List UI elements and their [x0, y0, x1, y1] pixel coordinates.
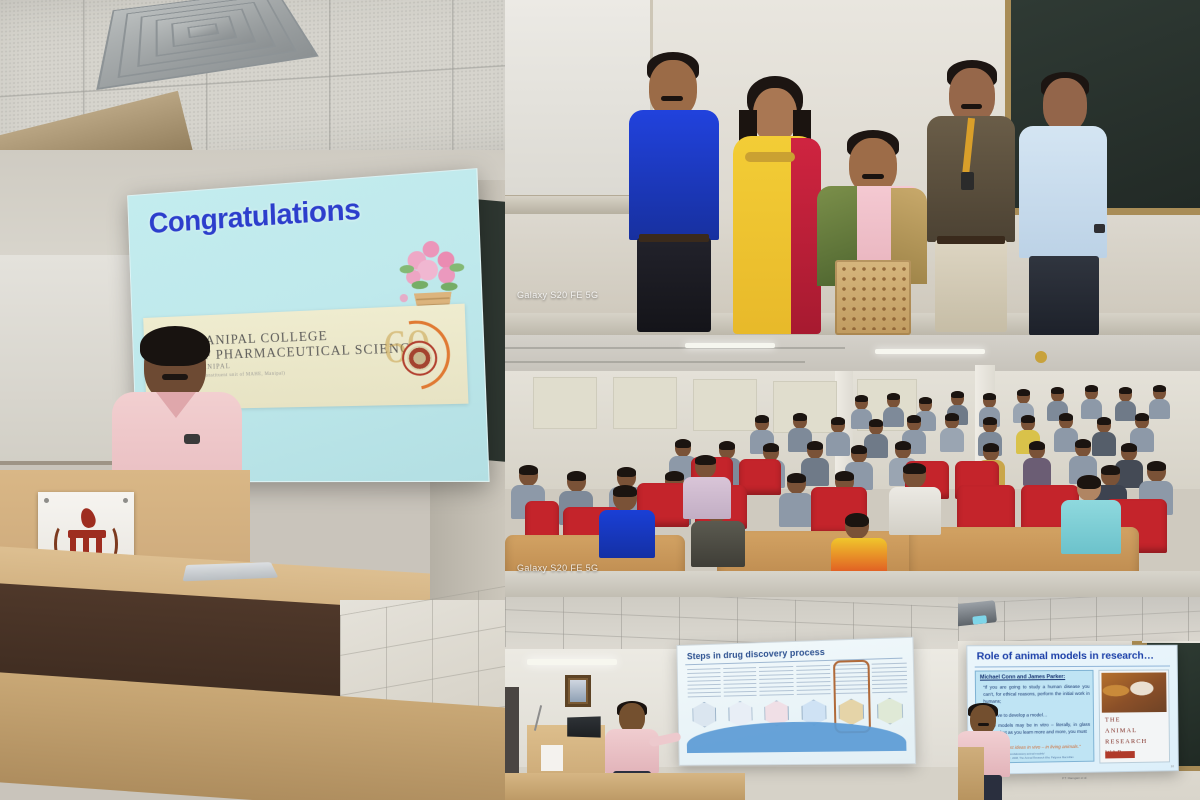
speaker-hair: [140, 326, 210, 366]
wristwatch: [1094, 224, 1105, 233]
anniversary-60-mark: 60: [374, 312, 458, 397]
wall-panel: [613, 377, 677, 429]
book-badge: [1105, 751, 1135, 758]
person-woman-yellow-kurta: [727, 76, 823, 335]
step-2: [723, 667, 758, 729]
book-title-line-3: RESEARCH: [1105, 738, 1147, 746]
projection-screen: Steps in drug discovery process: [676, 637, 916, 766]
slide-title-animal-models: Role of animal models in research…: [977, 650, 1154, 663]
step-6: [871, 663, 908, 727]
aisle-floor: [505, 571, 1200, 597]
slide-title-rule: [975, 666, 1170, 668]
stage-desk: [505, 773, 745, 800]
laptop: [567, 716, 600, 737]
slide-footer: [687, 758, 688, 762]
person-seated-guest-with-shawl: [821, 130, 925, 335]
lectern: [958, 747, 984, 800]
podium-plaque: [541, 745, 563, 771]
camera-watermark: Galaxy S20 FE 5G: [517, 563, 598, 573]
panel-animal-models-talk: Role of animal models in research… Micha…: [958, 597, 1200, 800]
wall-panel: [693, 379, 757, 431]
step-1: [687, 668, 721, 729]
speaker-moustache: [162, 374, 188, 380]
drug-discovery-steps: [687, 663, 908, 730]
person-man-light-blue-shirt: [1017, 72, 1109, 334]
step-4: [796, 665, 832, 728]
photo-collage: Congratulations: [0, 0, 1200, 800]
wall-emblem-icon: [1035, 351, 1047, 363]
quote-part-1: “If you are going to study a human disea…: [983, 683, 1090, 705]
ceiling: [505, 335, 1200, 375]
quote-authors: Michael Conn and James Parker:: [980, 674, 1065, 681]
panel-group-photo: Galaxy S20 FE 5G: [505, 0, 1200, 335]
book-cover-illustration: [1101, 672, 1166, 712]
door: [505, 687, 519, 777]
book-cover-animal-research-war: THE ANIMAL RESEARCH WAR: [1098, 669, 1170, 763]
panel-lecture-hall-congratulations: Congratulations: [0, 0, 505, 800]
camera-watermark: Galaxy S20 FE 5G: [517, 290, 598, 300]
slide-page-number: 10: [1171, 764, 1174, 768]
person-man-brown-shirt: [923, 60, 1019, 332]
panel-auditorium-audience: Galaxy S20 FE 5G: [505, 335, 1200, 597]
book-title-line-2: ANIMAL: [1105, 727, 1137, 734]
id-card: [961, 172, 974, 190]
book-title-line-1: THE: [1105, 716, 1121, 723]
person-man-blue-shirt: [623, 52, 723, 332]
wall-panel: [533, 377, 597, 429]
panel-drug-discovery-talk: Steps in drug discovery process: [505, 597, 958, 800]
framed-portrait: [565, 675, 591, 707]
step-3: [759, 666, 794, 729]
ceiling-light: [527, 659, 617, 665]
slide-title-drug-discovery: Steps in drug discovery process: [687, 647, 825, 661]
slide-title-congratulations: Congratulations: [148, 192, 361, 240]
lapel-microphone-icon: [184, 434, 200, 444]
